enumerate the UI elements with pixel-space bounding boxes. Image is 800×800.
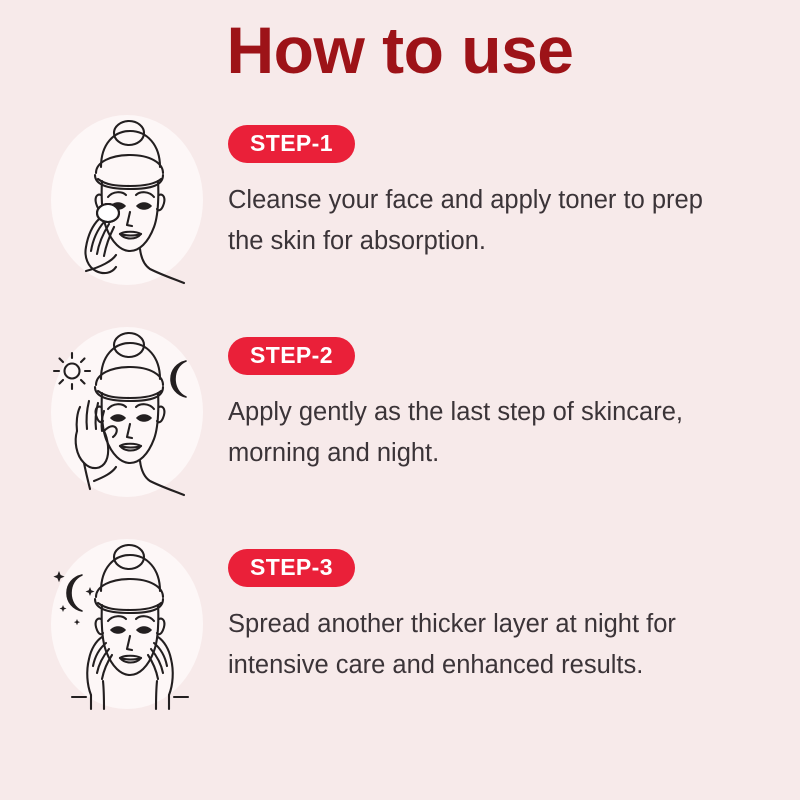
step-row: STEP-1 Cleanse your face and apply toner… (0, 115, 800, 327)
steps-list: STEP-1 Cleanse your face and apply toner… (0, 115, 800, 751)
crescent-moon-icon (171, 361, 186, 397)
step-description: Spread another thicker layer at night fo… (228, 604, 728, 687)
step-content: STEP-1 Cleanse your face and apply toner… (206, 115, 800, 263)
step-3-illustration (46, 539, 206, 715)
step-badge: STEP-3 (228, 549, 355, 587)
step-description: Apply gently as the last step of skincar… (228, 392, 728, 475)
step-2-illustration (46, 327, 206, 503)
step-content: STEP-3 Spread another thicker layer at n… (206, 539, 800, 687)
how-to-use-poster: How to use (0, 0, 800, 800)
step-row: STEP-2 Apply gently as the last step of … (0, 327, 800, 539)
step-badge: STEP-1 (228, 125, 355, 163)
page-title: How to use (0, 14, 800, 87)
sun-icon (54, 353, 90, 389)
crescent-moon-icon (67, 575, 82, 611)
woman-hands-on-cheeks-icon (46, 539, 206, 715)
step-1-illustration (46, 115, 206, 291)
step-description: Cleanse your face and apply toner to pre… (228, 180, 728, 263)
woman-applying-cream-icon (46, 327, 206, 503)
step-content: STEP-2 Apply gently as the last step of … (206, 327, 800, 475)
step-badge: STEP-2 (228, 337, 355, 375)
title-section: How to use (0, 0, 800, 87)
step-row: STEP-3 Spread another thicker layer at n… (0, 539, 800, 751)
woman-applying-cotton-pad-icon (46, 115, 206, 291)
